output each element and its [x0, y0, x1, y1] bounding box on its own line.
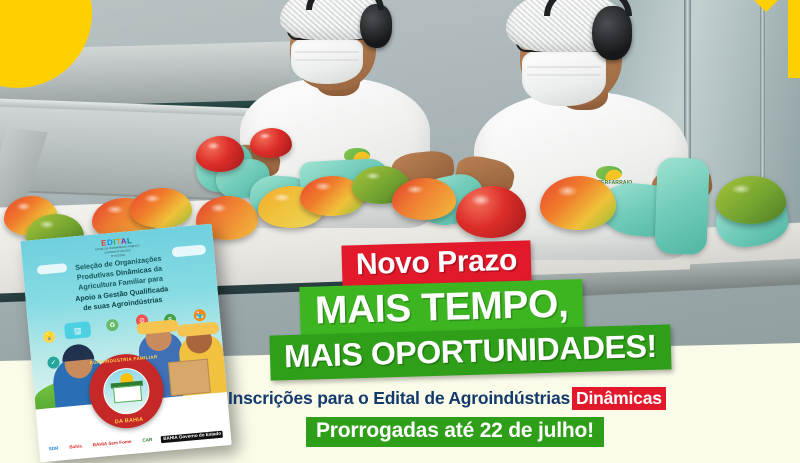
- car-logo: CAR: [140, 437, 155, 445]
- subtext-line-1-main: Inscrições para o Edital de Agroindústri…: [228, 388, 570, 408]
- subtext-line-2: Prorrogadas até 22 de julho!: [306, 417, 604, 447]
- subtext-line-1: Inscrições para o Edital de Agroindústri…: [228, 388, 666, 409]
- sdr-logo: SDR: [47, 445, 61, 453]
- worker-right-glove-right-cuff: [654, 157, 709, 255]
- mango-10: [196, 136, 244, 172]
- chat-chart-icon: ▥: [64, 321, 91, 339]
- governo-bahia-logo: BAHIA Governo do Estado: [161, 431, 223, 443]
- mango-13: [716, 176, 786, 224]
- seal-house-icon: [113, 385, 142, 403]
- yellow-bar-decoration: [788, 0, 800, 78]
- mango-9: [392, 178, 456, 220]
- coop-sun-icon-2: [596, 166, 622, 180]
- brochure-box: [168, 359, 211, 396]
- worker-right-mask: [522, 50, 606, 106]
- brochure-seal-inner: [101, 366, 151, 416]
- promo-banner: COOPERFARRAIO COOPERFARRAIO: [0, 0, 800, 463]
- worker-right-earband: [544, 0, 632, 16]
- bahia-sem-fome-logo: BAHIA Sem Fome: [91, 439, 134, 450]
- edital-brochure: EDITAL EDITAL DE CHAMAMENTO PÚBLICOCAR/S…: [20, 224, 231, 462]
- subtext-highlight-dinamicas: Dinâmicas: [572, 387, 666, 410]
- worker-left-earmuff: [360, 4, 392, 48]
- mango-4: [130, 188, 192, 228]
- worker-left-earband: [306, 0, 384, 10]
- mango-14: [250, 128, 292, 158]
- bahia-logo: Bahia: [67, 443, 84, 451]
- mango-12: [540, 176, 616, 230]
- worker-left-mask: [291, 38, 363, 84]
- mango-11: [456, 186, 526, 238]
